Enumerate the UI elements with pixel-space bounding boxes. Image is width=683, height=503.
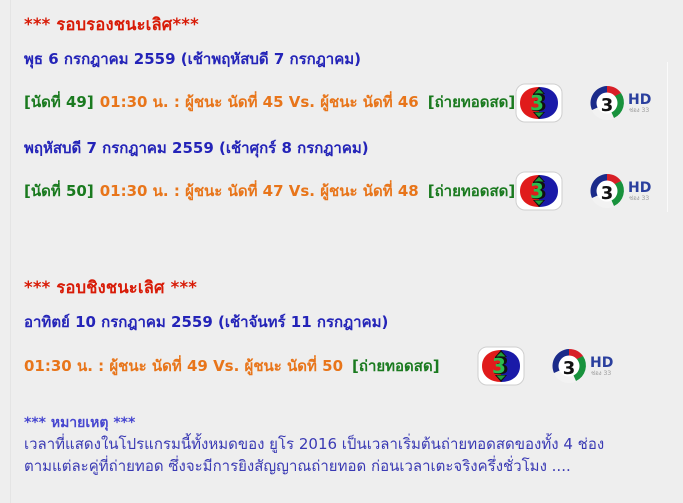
date-line-match49: พุธ 6 กรกฎาคม 2559 (เช้าพฤหัสบดี 7 กรกฎา… [24,51,683,68]
svg-text:HD: HD [628,180,651,196]
channel-logos-49: 3 3 3 HD ช่อง 33 [515,83,659,123]
match-number-50: [นัดที่ 50] [24,183,94,200]
hd-label: HD [628,92,651,108]
date-line-match50: พฤหัสบดี 7 กรกฎาคม 2559 (เช้าศุกร์ 8 กรก… [24,140,683,157]
live-badge-49: [ถ่ายทอดสด] [428,94,516,111]
svg-text:3: 3 [530,179,544,203]
section-heading-final: *** รอบชิงชนะเลิศ *** [24,279,683,297]
match-row-final: 01:30 น. : ผู้ชนะ นัดที่ 49 Vs. ผู้ชนะ น… [24,346,683,386]
channel-logos-50: 3 3 3 HD ช่อง 33 [515,171,659,211]
match-number-49: [นัดที่ 49] [24,94,94,111]
hd-sub-label: ช่อง 33 [629,107,649,114]
svg-text:3: 3 [601,183,614,204]
svg-text:3: 3 [563,358,576,379]
live-badge-final: [ถ่ายทอดสด] [352,358,440,375]
match-row-49: [นัดที่ 49] 01:30 น. : ผู้ชนะ นัดที่ 45 … [24,83,683,123]
schedule-page: *** รอบรองชนะเลิศ*** พุธ 6 กรกฎาคม 2559 … [0,0,683,503]
ch3-logo: 3 3 [515,171,573,211]
ch3-hd-logo: 3 HD ช่อง 33 [587,171,659,211]
ch3-hd-logo: 3 HD ช่อง 33 [549,346,621,386]
section-final: *** รอบชิงชนะเลิศ *** อาทิตย์ 10 กรกฎาคม… [24,279,683,386]
note-title: *** หมายเหตุ *** [24,416,683,431]
match-detail-final: 01:30 น. : ผู้ชนะ นัดที่ 49 Vs. ผู้ชนะ น… [24,358,343,375]
svg-text:3: 3 [492,354,506,378]
section-heading-semifinal: *** รอบรองชนะเลิศ*** [24,16,683,34]
ch3-logo: 3 3 [515,83,573,123]
note-line-1: เวลาที่แสดงในโปรแกรมนี้ทั้งหมดของ ยูโร 2… [24,434,664,456]
svg-text:HD: HD [590,355,613,371]
ch3-logo: 3 3 [477,346,535,386]
note-block: *** หมายเหตุ *** เวลาที่แสดงในโปรแกรมนี้… [24,416,683,478]
note-body: เวลาที่แสดงในโปรแกรมนี้ทั้งหมดของ ยูโร 2… [24,434,664,478]
note-line-2: ตามแต่ละคู่ที่ถ่ายทอด ซึ่งจะมีการยิงสัญญ… [24,456,664,478]
match-row-50: [นัดที่ 50] 01:30 น. : ผู้ชนะ นัดที่ 47 … [24,171,683,211]
svg-text:3: 3 [530,91,544,115]
ch3-hd-logo: 3 HD ช่อง 33 [587,83,659,123]
svg-text:ช่อง 33: ช่อง 33 [591,370,611,377]
section-gap [24,211,683,273]
date-line-final: อาทิตย์ 10 กรกฎาคม 2559 (เช้าจันทร์ 11 ก… [24,314,683,331]
live-badge-50: [ถ่ายทอดสด] [428,183,516,200]
svg-text:3: 3 [601,95,614,116]
schedule-content: *** รอบรองชนะเลิศ*** พุธ 6 กรกฎาคม 2559 … [0,0,683,478]
section-semifinal: *** รอบรองชนะเลิศ*** พุธ 6 กรกฎาคม 2559 … [24,16,683,211]
match-detail-49: 01:30 น. : ผู้ชนะ นัดที่ 45 Vs. ผู้ชนะ น… [100,94,419,111]
svg-text:ช่อง 33: ช่อง 33 [629,195,649,202]
channel-logos-final: 3 3 3 HD ช่อง 33 [477,346,621,386]
match-detail-50: 01:30 น. : ผู้ชนะ นัดที่ 47 Vs. ผู้ชนะ น… [100,183,419,200]
